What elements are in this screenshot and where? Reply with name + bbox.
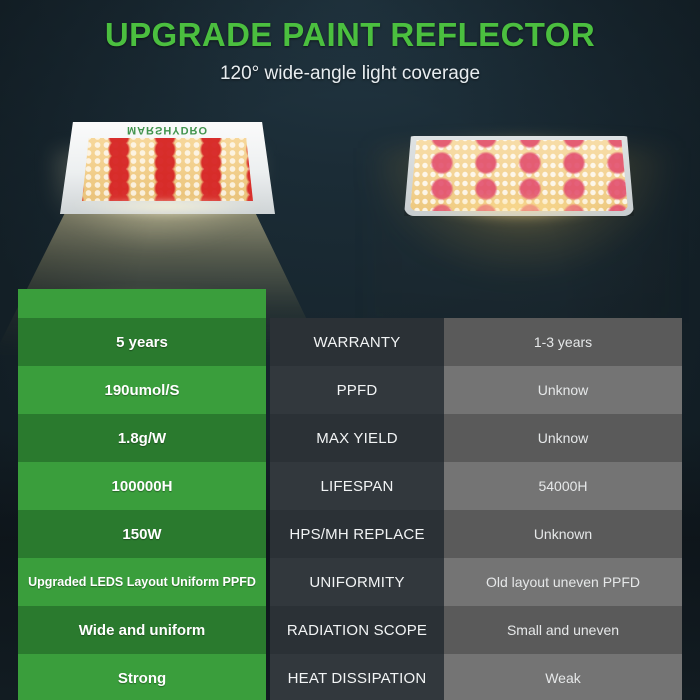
left-lamp-edge-glow (52, 202, 283, 224)
header: UPGRADE PAINT REFLECTOR 120° wide-angle … (0, 16, 700, 85)
cell-ours-value: Strong (18, 654, 266, 700)
cell-feature-label: LIFESPAN (270, 462, 444, 510)
table-row: 150WHPS/MH REPLACEUnknown (18, 510, 682, 558)
right-lamp-edge-glow (394, 202, 644, 228)
cell-theirs-value: 1-3 years (444, 318, 682, 366)
cell-feature-label: WARRANTY (270, 318, 444, 366)
infographic-canvas: UPGRADE PAINT REFLECTOR 120° wide-angle … (0, 0, 700, 700)
ours-column-cap (18, 289, 266, 318)
cell-theirs-value: Unknow (444, 366, 682, 414)
led-board-left (82, 138, 253, 201)
cell-feature-label: RADIATION SCOPE (270, 606, 444, 654)
page-subtitle: 120° wide-angle light coverage (0, 63, 700, 85)
red-led-grid-icon (410, 140, 628, 211)
cell-ours-value: 1.8g/W (18, 414, 266, 462)
cell-ours-value: Wide and uniform (18, 606, 266, 654)
cell-theirs-value: Small and uneven (444, 606, 682, 654)
table-row: 190umol/SPPFDUnknow (18, 366, 682, 414)
red-led-grid-icon (82, 138, 253, 201)
table-row: 1.8g/WMAX YIELDUnknow (18, 414, 682, 462)
theirs-column-cap (444, 289, 682, 318)
cell-feature-label: HEAT DISSIPATION (270, 654, 444, 700)
table-header-strip (18, 289, 682, 318)
table-row: 100000HLIFESPAN54000H (18, 462, 682, 510)
page-title: UPGRADE PAINT REFLECTOR (0, 16, 700, 54)
cell-ours-value: 190umol/S (18, 366, 266, 414)
cell-theirs-value: Weak (444, 654, 682, 700)
cell-theirs-value: 54000H (444, 462, 682, 510)
table-row: 5 yearsWARRANTY1-3 years (18, 318, 682, 366)
cell-ours-value: 5 years (18, 318, 266, 366)
cell-theirs-value: Unknown (444, 510, 682, 558)
cell-feature-label: UNIFORMITY (270, 558, 444, 606)
cell-theirs-value: Unknow (444, 414, 682, 462)
cell-ours-value: 150W (18, 510, 266, 558)
left-product-image: MARSHYDRO (60, 122, 275, 214)
cell-ours-value: 100000H (18, 462, 266, 510)
cell-theirs-value: Old layout uneven PPFD (444, 558, 682, 606)
feature-column-cap (270, 289, 444, 318)
comparison-table: 5 yearsWARRANTY1-3 years190umol/SPPFDUnk… (18, 289, 682, 700)
cell-feature-label: MAX YIELD (270, 414, 444, 462)
led-board-right (410, 140, 628, 211)
cell-feature-label: HPS/MH REPLACE (270, 510, 444, 558)
brand-logo: MARSHYDRO (60, 124, 275, 136)
cell-feature-label: PPFD (270, 366, 444, 414)
table-row: Upgraded LEDS Layout Uniform PPFDUNIFORM… (18, 558, 682, 606)
table-row: Wide and uniformRADIATION SCOPESmall and… (18, 606, 682, 654)
table-row: StrongHEAT DISSIPATIONWeak (18, 654, 682, 700)
cell-ours-value: Upgraded LEDS Layout Uniform PPFD (18, 558, 266, 606)
right-product-image (404, 136, 634, 216)
